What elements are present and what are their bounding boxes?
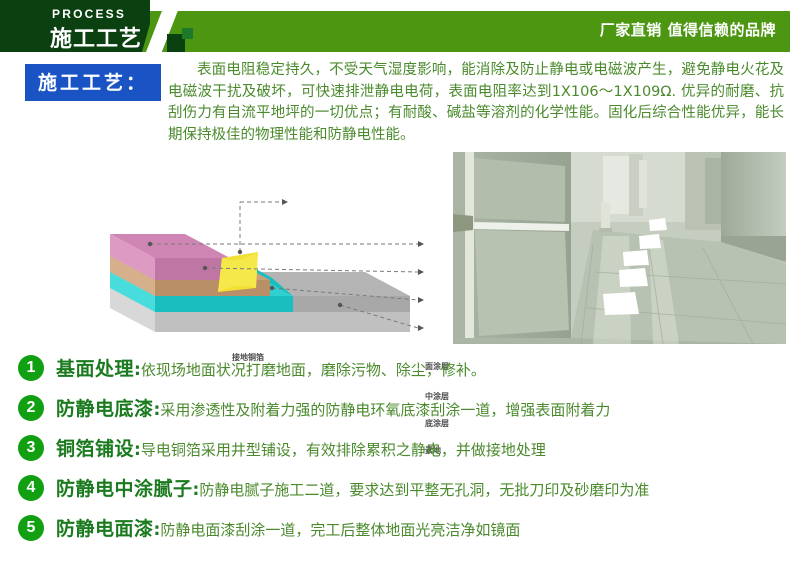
step-number-badge: 3 — [18, 435, 44, 461]
step-title: 基面处理 — [56, 358, 134, 380]
step-description: 采用渗透性及附着力强的防静电环氧底漆刮涂一道，增强表面附着力 — [160, 401, 610, 419]
step-item[interactable]: 5 防静电面漆:防静电面漆刮涂一道，完工后整体地面光亮洁净如镜面 — [18, 512, 790, 552]
header-title: 施工工艺 — [50, 21, 142, 53]
step-text: 防静电面漆:防静电面漆刮涂一道，完工后整体地面光亮洁净如镜面 — [56, 512, 520, 541]
header-slogan: 厂家直销 值得信赖的品牌 — [600, 19, 776, 40]
step-number-badge: 1 — [18, 355, 44, 381]
page-header: PROCESS 施工工艺 厂家直销 值得信赖的品牌 — [0, 0, 790, 52]
process-steps-list: 1 基面处理:依现场地面状况打磨地面，磨除污物、除尘，修补。 2 防静电底漆:采… — [18, 352, 790, 552]
layer-structure-diagram: 接地铜箔 面涂层 中涂层 底涂层 素地 — [10, 160, 450, 345]
step-title: 防静电底漆 — [56, 398, 154, 420]
step-item[interactable]: 1 基面处理:依现场地面状况打磨地面，磨除污物、除尘，修补。 — [18, 352, 790, 392]
step-number-badge: 2 — [18, 395, 44, 421]
step-description: 防静电腻子施工二道，要求达到平整无孔洞，无批刀印及砂磨印为准 — [199, 481, 649, 499]
step-item[interactable]: 2 防静电底漆:采用渗透性及附着力强的防静电环氧底漆刮涂一道，增强表面附着力 — [18, 392, 790, 432]
step-number-badge: 4 — [18, 475, 44, 501]
intro-paragraph: 表面电阻稳定持久，不受天气湿度影响，能消除及防止静电或电磁波产生，避免静电火花及… — [168, 60, 784, 146]
diagram-svg — [10, 160, 450, 345]
step-text: 防静电底漆:采用渗透性及附着力强的防静电环氧底漆刮涂一道，增强表面附着力 — [56, 392, 610, 421]
header-square-accent — [182, 28, 193, 39]
step-title: 铜箔铺设 — [56, 438, 134, 460]
step-text: 防静电中涂腻子:防静电腻子施工二道，要求达到平整无孔洞，无批刀印及砂磨印为准 — [56, 472, 649, 501]
project-photo — [453, 152, 786, 344]
header-eyebrow: PROCESS — [52, 7, 126, 21]
step-item[interactable]: 3 铜箔铺设:导电铜箔采用井型铺设，有效排除累积之静电，并做接地处理 — [18, 432, 790, 472]
step-item[interactable]: 4 防静电中涂腻子:防静电腻子施工二道，要求达到平整无孔洞，无批刀印及砂磨印为准 — [18, 472, 790, 512]
step-text: 铜箔铺设:导电铜箔采用井型铺设，有效排除累积之静电，并做接地处理 — [56, 432, 546, 461]
section-badge: 施工工艺： — [25, 64, 161, 101]
step-separator: : — [134, 360, 141, 380]
step-text: 基面处理:依现场地面状况打磨地面，磨除污物、除尘，修补。 — [56, 352, 486, 381]
step-title: 防静电面漆 — [56, 518, 154, 540]
step-description: 依现场地面状况打磨地面，磨除污物、除尘，修补。 — [141, 361, 486, 379]
step-number-badge: 5 — [18, 515, 44, 541]
step-title: 防静电中涂腻子 — [56, 478, 193, 500]
step-separator: : — [134, 440, 141, 460]
step-description: 防静电面漆刮涂一道，完工后整体地面光亮洁净如镜面 — [160, 521, 520, 539]
step-description: 导电铜箔采用井型铺设，有效排除累积之静电，并做接地处理 — [141, 441, 546, 459]
photo-svg — [453, 152, 786, 344]
